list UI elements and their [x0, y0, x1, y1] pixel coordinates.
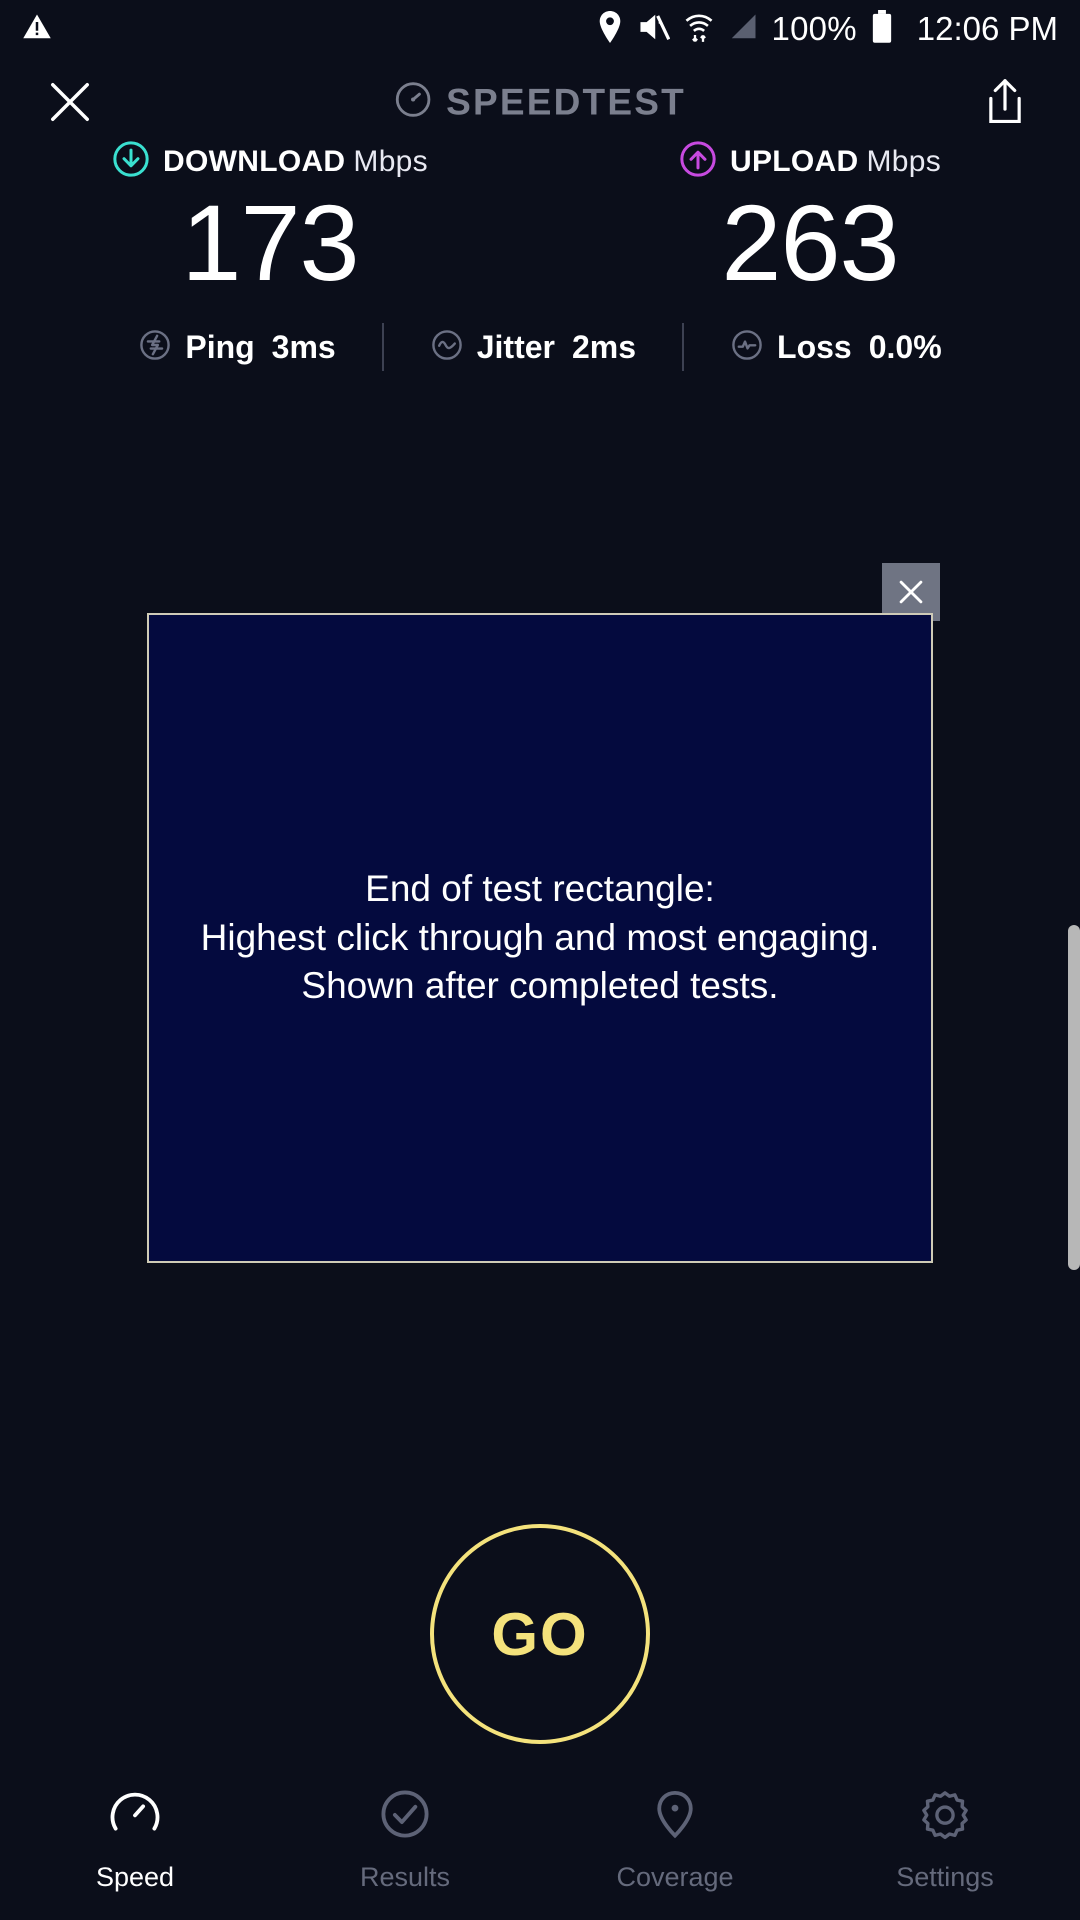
upload-header: UPLOADMbps: [679, 140, 941, 183]
jitter-label: Jitter: [477, 329, 555, 366]
tab-results-label: Results: [360, 1862, 450, 1893]
ad-line-2: Highest click through and most engaging.: [201, 914, 880, 963]
gear-icon: [918, 1787, 972, 1846]
page-title: SPEEDTEST: [446, 81, 686, 123]
battery-full-icon: [871, 10, 893, 49]
download-label: DOWNLOADMbps: [163, 145, 428, 179]
upload-value: 263: [721, 189, 898, 297]
speedtest-app-screen: 100% 12:06 PM SPEEDTEST: [0, 0, 1080, 1920]
ad-line-3: Shown after completed tests.: [201, 962, 880, 1011]
download-metric: DOWNLOADMbps 173: [0, 140, 540, 297]
tab-settings-label: Settings: [896, 1862, 994, 1893]
speedometer-icon: [108, 1787, 162, 1846]
arrow-up-circle-icon: [679, 140, 717, 183]
go-button-label: GO: [491, 1600, 588, 1669]
jitter-value: 2ms: [572, 329, 636, 366]
wifi-icon: [684, 11, 714, 48]
tab-speed-label: Speed: [96, 1862, 174, 1893]
ad-text: End of test rectangle: Highest click thr…: [181, 865, 900, 1011]
share-button[interactable]: [976, 73, 1034, 131]
status-bar-right: 100% 12:06 PM: [596, 10, 1058, 49]
brand: SPEEDTEST: [394, 81, 686, 124]
status-bar: 100% 12:06 PM: [0, 0, 1080, 58]
speed-row: DOWNLOADMbps 173 UPLOADMbps 263: [0, 140, 1080, 297]
download-value: 173: [181, 189, 358, 297]
clock-label: 12:06 PM: [917, 10, 1058, 48]
status-bar-left: [22, 12, 52, 47]
warning-triangle-icon: [22, 12, 52, 47]
loss-value: 0.0%: [869, 329, 942, 366]
divider: [382, 323, 384, 371]
upload-metric: UPLOADMbps 263: [540, 140, 1080, 297]
tab-settings[interactable]: Settings: [810, 1787, 1080, 1893]
tab-coverage[interactable]: Coverage: [540, 1787, 810, 1893]
map-pin-icon: [648, 1787, 702, 1846]
close-button[interactable]: [38, 70, 102, 134]
ping-icon: [138, 328, 172, 367]
tab-speed[interactable]: Speed: [0, 1787, 270, 1893]
divider: [682, 323, 684, 371]
cellular-signal-icon: [728, 12, 758, 47]
battery-percent-label: 100%: [772, 10, 857, 48]
location-pin-icon: [596, 11, 624, 48]
loss-metric: Loss 0.0%: [730, 328, 942, 367]
ping-label: Ping: [185, 329, 254, 366]
speedometer-icon: [394, 81, 432, 124]
loss-icon: [730, 328, 764, 367]
results-summary: DOWNLOADMbps 173 UPLOADMbps 263 Pi: [0, 140, 1080, 371]
download-header: DOWNLOADMbps: [112, 140, 428, 183]
app-header: SPEEDTEST: [0, 58, 1080, 146]
ping-metric: Ping 3ms: [138, 328, 335, 367]
tab-coverage-label: Coverage: [616, 1862, 733, 1893]
check-circle-icon: [378, 1787, 432, 1846]
ping-jitter-loss-row: Ping 3ms Jitter 2ms Loss 0.0%: [0, 323, 1080, 371]
arrow-down-circle-icon: [112, 140, 150, 183]
scrollbar-thumb[interactable]: [1068, 925, 1080, 1270]
ad-line-1: End of test rectangle:: [201, 865, 880, 914]
tab-results[interactable]: Results: [270, 1787, 540, 1893]
mute-icon: [638, 12, 670, 47]
go-button[interactable]: GO: [430, 1524, 650, 1744]
loss-label: Loss: [777, 329, 852, 366]
ping-value: 3ms: [272, 329, 336, 366]
upload-label: UPLOADMbps: [730, 145, 941, 179]
jitter-icon: [430, 328, 464, 367]
bottom-navigation: Speed Results Coverage Settings: [0, 1760, 1080, 1920]
jitter-metric: Jitter 2ms: [430, 328, 636, 367]
ad-creative[interactable]: End of test rectangle: Highest click thr…: [147, 613, 933, 1263]
